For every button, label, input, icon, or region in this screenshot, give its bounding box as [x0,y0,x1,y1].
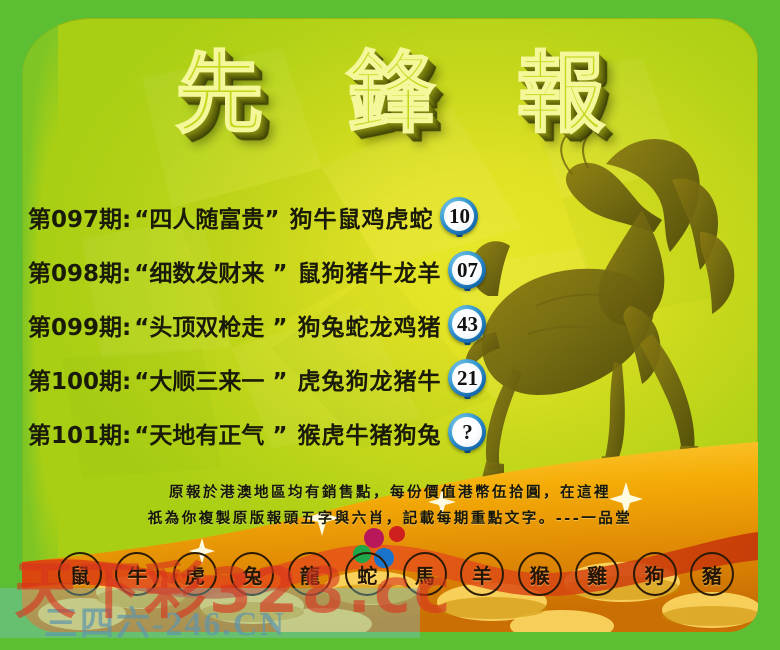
forecast-row: 第100期: “大顺三来一 ” 虎兔狗龙猪牛 21 [28,352,548,406]
zodiac-coin-dragon: 龍 [288,552,332,596]
zodiac-coin-pig: 豬 [690,552,734,596]
lottery-ball-badge: ? [448,413,486,453]
footer-line-2: 祇為你複製原版報頭五字與六肖，記載每期重點文字。---一品堂 [0,506,780,532]
issue-label: 第100期: [28,362,131,396]
forecast-row: 第099期: “头顶双枪走 ” 狗兔蛇龙鸡猪 43 [28,298,548,352]
forecast-phrase: “天地有正气 ” [134,416,287,450]
lottery-ball-badge: 10 [440,197,478,237]
forecast-zodiac: 狗兔蛇龙鸡猪 [297,308,441,342]
ball-number: 21 [457,368,478,389]
forecast-zodiac: 狗牛鼠鸡虎蛇 [289,200,433,234]
poster-canvas: 先 鋒 報 [0,0,780,650]
ball-number: 10 [449,206,470,227]
zodiac-coin-dog: 狗 [633,552,677,596]
page-title: 先 鋒 報 [149,50,630,138]
issue-label: 第101期: [28,416,131,450]
forecast-zodiac: 虎兔狗龙猪牛 [297,362,441,396]
zodiac-coin-row: 鼠 牛 虎 兔 龍 蛇 馬 羊 猴 雞 狗 豬 [58,552,734,598]
forecast-row: 第098期: “细数发财来 ” 鼠狗猪牛龙羊 07 [28,244,548,298]
forecast-phrase: “大顺三来一 ” [134,362,287,396]
issue-label: 第099期: [28,308,131,342]
zodiac-coin-ox: 牛 [115,552,159,596]
forecast-phrase: “细数发财来 ” [134,254,287,288]
footer-note: 原報於港澳地區均有銷售點，每份價值港幣伍拾圓，在這裡 祇為你複製原版報頭五字與六… [0,480,780,532]
ball-number: ? [462,422,473,443]
zodiac-coin-snake: 蛇 [345,552,389,596]
forecast-phrase: “头顶双枪走 ” [134,308,287,342]
footer-line-1: 原報於港澳地區均有銷售點，每份價值港幣伍拾圓，在這裡 [0,480,780,506]
forecast-zodiac: 鼠狗猪牛龙羊 [297,254,441,288]
zodiac-coin-rooster: 雞 [575,552,619,596]
forecast-list: 第097期: “四人随富贵” 狗牛鼠鸡虎蛇 10 第098期: “细数发财来 ”… [28,190,548,460]
lottery-ball-badge: 07 [448,251,486,291]
lottery-ball-badge: 43 [448,305,486,345]
forecast-row: 第097期: “四人随富贵” 狗牛鼠鸡虎蛇 10 [28,190,548,244]
zodiac-coin-tiger: 虎 [173,552,217,596]
issue-label: 第098期: [28,254,131,288]
zodiac-coin-rat: 鼠 [58,552,102,596]
forecast-zodiac: 猴虎牛猪狗兔 [297,416,441,450]
zodiac-coin-rabbit: 兔 [230,552,274,596]
zodiac-coin-goat: 羊 [460,552,504,596]
zodiac-coin-horse: 馬 [403,552,447,596]
masthead: 先 鋒 報 [0,50,780,138]
ball-number: 43 [457,314,478,335]
issue-label: 第097期: [28,200,131,234]
ball-number: 07 [457,260,478,281]
zodiac-coin-monkey: 猴 [518,552,562,596]
forecast-phrase: “四人随富贵” [134,200,279,234]
lottery-ball-badge: 21 [448,359,486,399]
forecast-row: 第101期: “天地有正气 ” 猴虎牛猪狗兔 ? [28,406,548,460]
